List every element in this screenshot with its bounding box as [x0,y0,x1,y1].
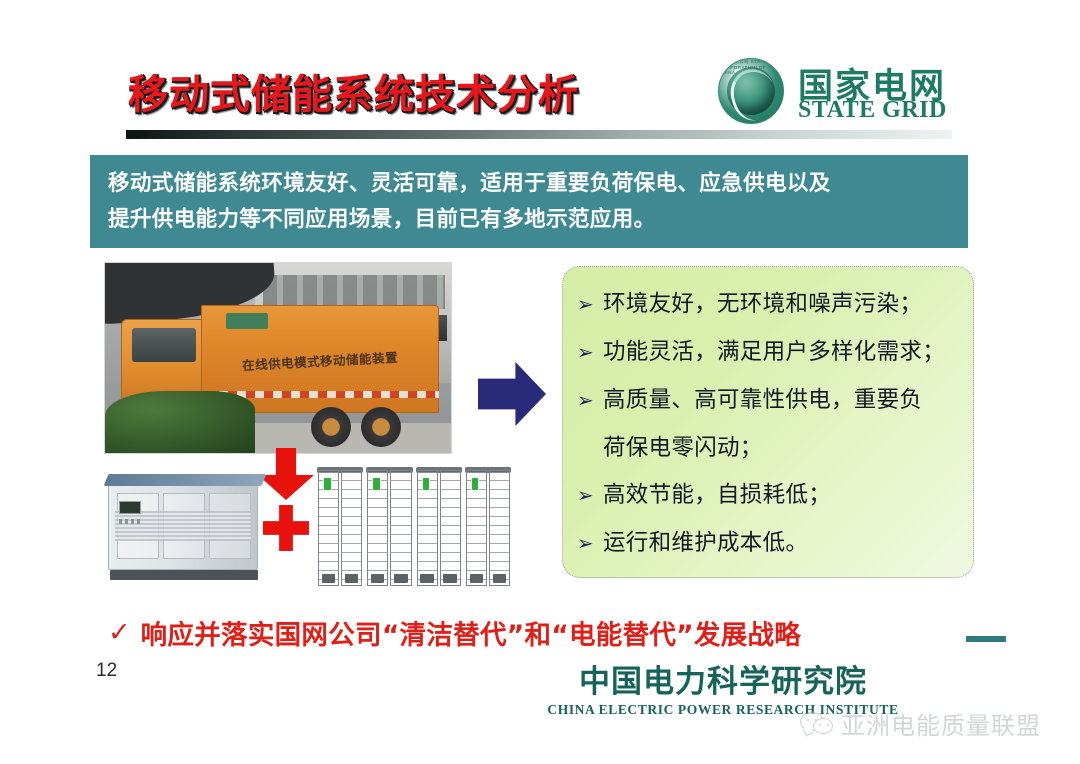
blue-right-arrow-icon [478,362,546,426]
list-item-continuation: 荷保电零闪动； [577,425,961,472]
battery-rack [489,470,510,586]
list-item-label: 高质量、高可靠性供电，重要负 [603,377,922,424]
pcs-cabinet-base [110,570,258,580]
battery-rack-pair [318,470,362,586]
check-icon: ✓ [108,617,131,648]
battery-rack [318,470,339,586]
list-item-label: 运行和维护成本低。 [603,520,808,567]
pcs-cabinet-body [108,482,258,570]
list-item-label: 高效节能，自损耗低； [603,472,831,519]
banner-line-1: 移动式储能系统环境友好、灵活可靠，适用于重要负荷保电、应急供电以及 [108,166,952,202]
list-item-label-wrap: 荷保电零闪动； [603,435,763,461]
state-grid-name-en: STATE GRID [798,97,947,124]
strategy-statement-text: 响应并落实国网公司“清洁替代”和“电能替代”发展战略 [141,613,801,652]
strategy-statement: ✓ 响应并落实国网公司“清洁替代”和“电能替代”发展战略 [108,613,801,652]
pcs-cabinet-top [104,474,267,486]
bullet-arrow-icon: ➢ [577,329,603,376]
page-title: 移动式储能系统技术分析 [128,62,579,120]
mobile-storage-truck-photo: 欢迎光临 移动储能 在线供电模式移动储能装置 [104,262,452,454]
battery-rack [390,470,411,586]
pcs-cabinet-photo [104,470,270,580]
battery-rack-pair [417,470,461,586]
wechat-icon [800,712,834,736]
battery-rack-foot [394,574,407,583]
bullet-arrow-icon: ➢ [577,281,603,328]
pcs-cabinet-display [119,501,141,514]
bullet-arrow-icon: ➢ [577,520,603,567]
list-item: ➢ 高质量、高可靠性供电，重要负 [577,377,961,424]
summary-banner: 移动式储能系统环境友好、灵活可靠，适用于重要负荷保电、应急供电以及 提升供电能力… [90,155,968,248]
battery-rack-foot [371,574,384,583]
truck-body-caption: 在线供电模式移动储能装置 [242,345,433,374]
strategy-dash-rule [966,636,1006,642]
truck-photo-hedge [105,391,255,453]
truck-wheel [311,407,351,447]
bullet-arrow-icon: ➢ [577,472,603,519]
battery-rack-foot [420,574,433,583]
battery-rack [466,470,487,586]
battery-rack [417,470,438,586]
battery-rack-pair [367,470,411,586]
banner-line-2: 提升供电能力等不同应用场景，目前已有多地示范应用。 [108,202,952,238]
battery-rack [440,470,461,586]
battery-rack-foot [493,574,506,583]
state-grid-ring-text: 国家电网公司 STATE GRID CORPORATION OF CHINA [719,59,783,123]
list-item: ➢ 环境友好，无环境和噪声污染； [577,281,961,328]
truck-wheel [361,407,401,447]
wechat-watermark-text: 亚洲电能质量联盟 [841,706,1041,741]
slide-canvas: 移动式储能系统技术分析 国家电网公司 STATE GRID CORPORATIO… [0,0,1080,764]
list-item-label: 环境友好，无环境和噪声污染； [603,281,922,328]
battery-rack-photo [318,470,510,586]
battery-rack-foot [470,574,483,583]
list-item-label: 功能灵活，满足用户多样化需求； [603,329,945,376]
battery-rack-foot [322,574,335,583]
institute-name-cn: 中国电力科学研究院 [488,656,958,701]
pcs-cabinet-buttons [119,519,143,524]
state-grid-logo: 国家电网公司 STATE GRID CORPORATION OF CHINA 国… [718,56,968,126]
wechat-watermark: 亚洲电能质量联盟 [800,706,1041,741]
battery-rack [341,470,362,586]
battery-rack [367,470,388,586]
pcs-cabinet-vent [115,511,251,541]
list-item: ➢ 运行和维护成本低。 [577,520,961,567]
list-item: ➢ 功能灵活，满足用户多样化需求； [577,329,961,376]
battery-rack-pair [466,470,510,586]
state-grid-emblem-icon: 国家电网公司 STATE GRID CORPORATION OF CHINA [718,58,784,124]
list-item: ➢ 高效节能，自损耗低； [577,472,961,519]
battery-rack-foot [443,574,456,583]
page-number: 12 [96,660,117,682]
title-underline-bar [126,130,952,139]
truck-body-logo-icon [226,313,268,329]
battery-rack-foot [345,574,358,583]
bullet-arrow-icon: ➢ [577,377,603,424]
advantages-panel: ➢ 环境友好，无环境和噪声污染； ➢ 功能灵活，满足用户多样化需求； ➢ 高质量… [562,266,974,578]
